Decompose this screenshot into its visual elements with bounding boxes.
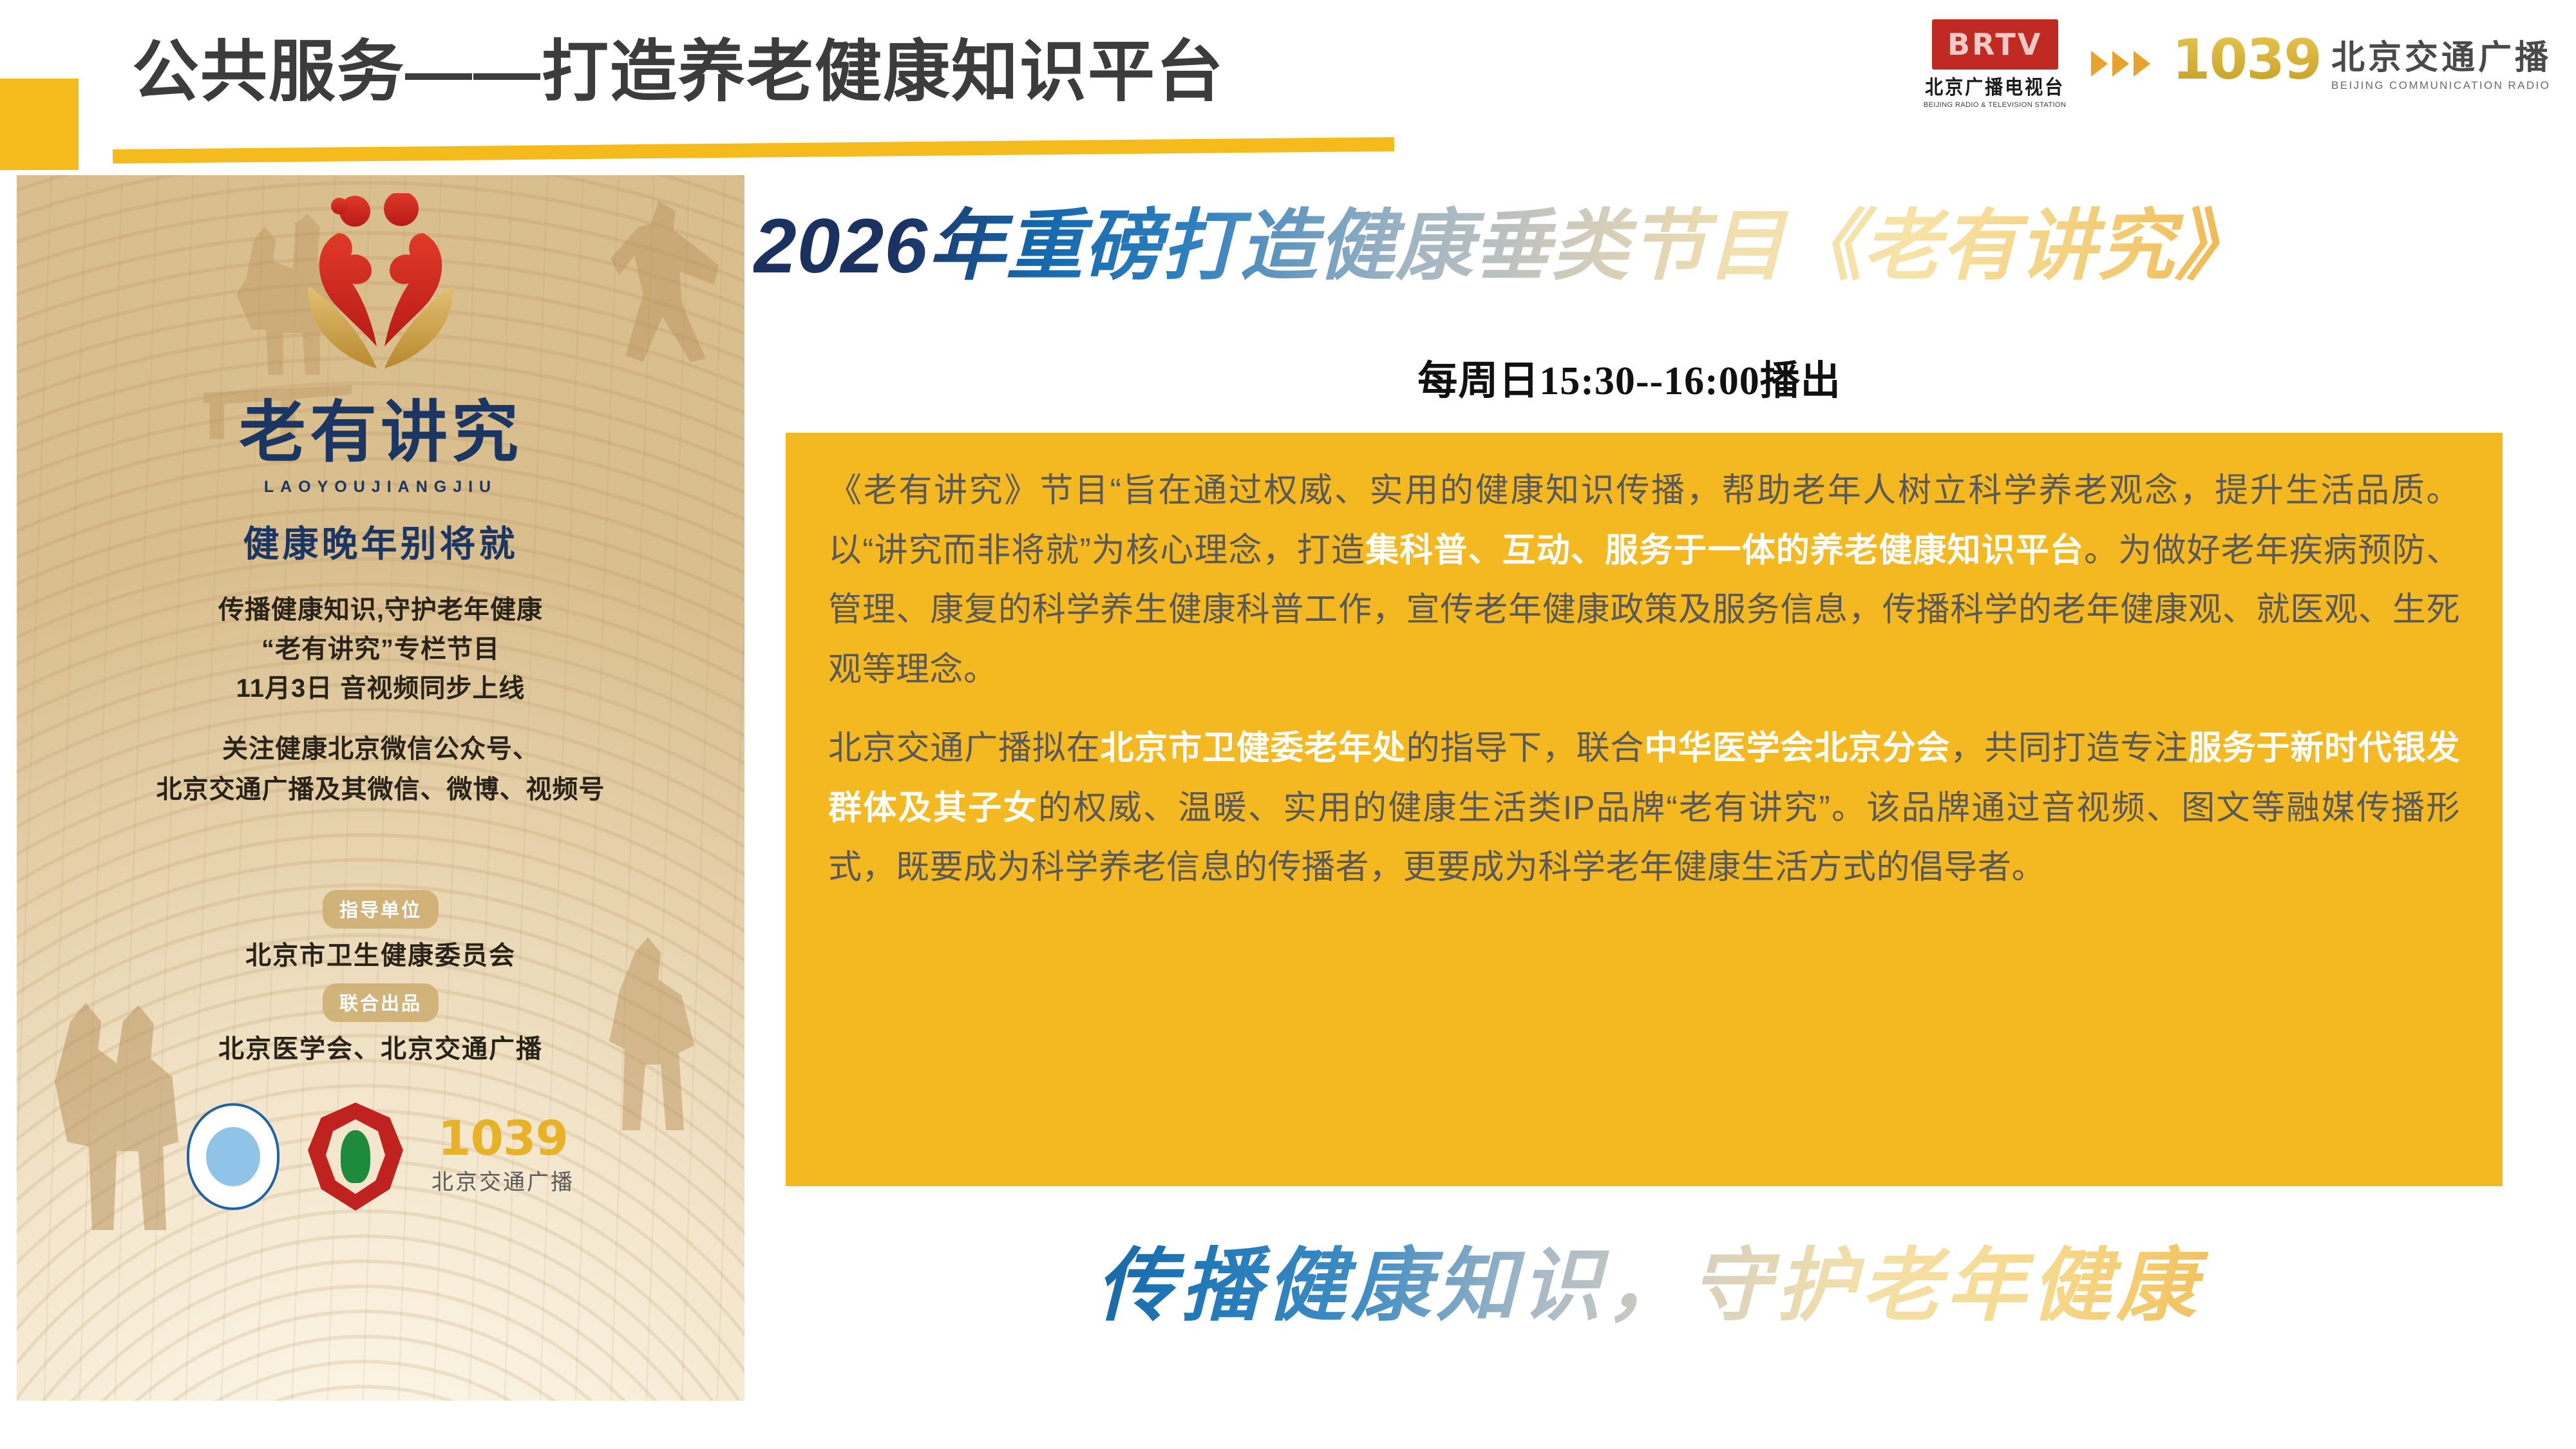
brtv-cn-name: 北京广播电视台: [1925, 72, 2065, 100]
triple-chevron-right-icon: [2091, 51, 2150, 77]
poster-guiding-unit: 指导单位 北京市卫生健康委员会: [17, 890, 744, 972]
page-title: 公共服务——打造养老健康知识平台: [132, 35, 1484, 109]
bottom-slogan: 传播健康知识，守护老年健康: [753, 1242, 2544, 1331]
poster-program-slogan: 健康晚年别将就: [17, 515, 744, 567]
beijing-municipal-health-commission-logo-icon: [187, 1103, 279, 1210]
poster-program-title: 老有讲究: [17, 399, 744, 466]
poster-radio-cn-name: 北京交通广播: [431, 1164, 574, 1196]
poster-follow-line: 关注健康北京微信公众号、: [17, 729, 744, 770]
poster-announcement-line: 传播健康知识,守护老年健康: [17, 591, 744, 630]
radio-number: 1039: [2172, 36, 2321, 85]
poster-announcement-block: 传播健康知识,守护老年健康 “老有讲究”专栏节目 11月3日 音视频同步上线: [17, 591, 744, 708]
header-accent-block: [0, 79, 79, 170]
brtv-mark-icon: BRTV: [1932, 19, 2058, 70]
poster-coproducer-unit: 联合出品 北京医学会、北京交通广播: [17, 983, 744, 1065]
radio-en-name: BEIJING COMMUNICATION RADIO: [2331, 79, 2552, 92]
guiding-unit-name: 北京市卫生健康委员会: [17, 934, 744, 972]
brtv-logo: BRTV 北京广播电视台 BEIJING RADIO & TELEVISION …: [1921, 19, 2069, 109]
poster-announcement-line: “老有讲究”专栏节目: [17, 630, 744, 669]
program-poster-image: 老有讲究 LAOYOUJIANGJIU 健康晚年别将就 传播健康知识,守护老年健…: [17, 175, 744, 1401]
coproducer-badge: 联合出品: [323, 983, 439, 1022]
title-underline: [113, 137, 1394, 164]
guiding-unit-badge: 指导单位: [323, 890, 439, 929]
radio-1039-logo-icon: 1039 北京交通广播: [431, 1117, 574, 1196]
main-headline: 2026年重磅打造健康垂类节目《老有讲究》: [753, 205, 2570, 289]
description-paragraph: 《老有讲究》节目“旨在通过权威、实用的健康知识传播，帮助老年人树立科学养老观念，…: [828, 461, 2460, 699]
heart-hands-logo-icon: [284, 193, 477, 399]
poster-follow-block: 关注健康北京微信公众号、 北京交通广播及其微信、微博、视频号: [17, 729, 744, 810]
brtv-en-name: BEIJING RADIO & TELEVISION STATION: [1924, 101, 2066, 109]
program-description-box: 《老有讲究》节目“旨在通过权威、实用的健康知识传播，帮助老年人树立科学养老观念，…: [786, 433, 2503, 1186]
poster-radio-number: 1039: [438, 1117, 568, 1160]
brand-bar: BRTV 北京广播电视台 BEIJING RADIO & TELEVISION …: [1921, 9, 2552, 118]
radio-1039-logo: 1039 北京交通广播 BEIJING COMMUNICATION RADIO: [2172, 36, 2552, 92]
coproducer-name: 北京医学会、北京交通广播: [17, 1028, 744, 1065]
poster-partner-logos: 1039 北京交通广播: [17, 1103, 744, 1211]
radio-cn-name: 北京交通广播: [2331, 41, 2552, 75]
poster-announcement-line: 11月3日 音视频同步上线: [17, 669, 744, 708]
description-paragraph: 北京交通广播拟在北京市卫健委老年处的指导下，联合中华医学会北京分会，共同打造专注…: [828, 719, 2460, 898]
poster-follow-line: 北京交通广播及其微信、微博、视频号: [17, 770, 744, 810]
airtime-text: 每周日15:30--16:00播出: [753, 348, 2505, 406]
beijing-medical-association-logo-icon: [308, 1103, 403, 1211]
poster-program-pinyin: LAOYOUJIANGJIU: [17, 478, 744, 497]
